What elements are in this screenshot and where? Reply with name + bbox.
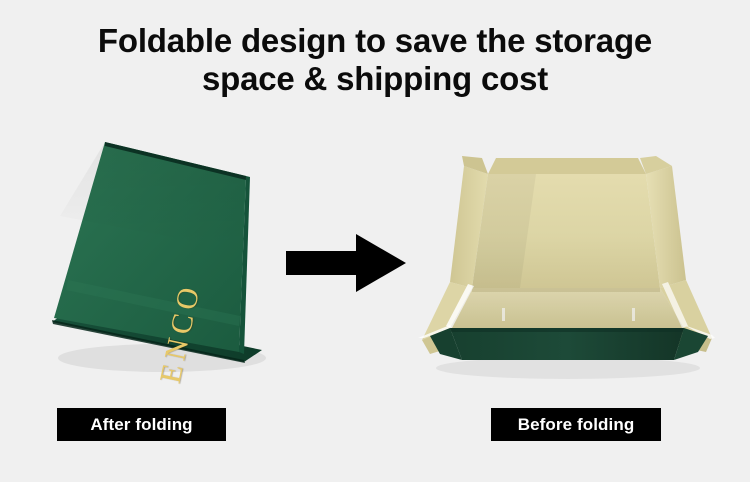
- unfolded-box-front-crease: [450, 328, 684, 332]
- folded-box-image: ENCO: [34, 130, 284, 380]
- unfolded-box-floor-shade: [450, 288, 684, 328]
- folded-box-illustration: [34, 130, 284, 380]
- page-title: Foldable design to save the storage spac…: [0, 22, 750, 98]
- unfolded-box-front-panel: [450, 328, 684, 360]
- unfolded-box-image: ENCO: [416, 132, 716, 380]
- promo-banner: Foldable design to save the storage spac…: [0, 0, 750, 482]
- caption-after-folding: After folding: [57, 408, 226, 441]
- unfolded-box-top-flap: [488, 158, 646, 174]
- unfolded-box-illustration: [416, 132, 716, 380]
- arrow-right-icon: [283, 230, 409, 296]
- caption-before-folding: Before folding: [491, 408, 661, 441]
- unfolded-box-shadow: [436, 357, 700, 379]
